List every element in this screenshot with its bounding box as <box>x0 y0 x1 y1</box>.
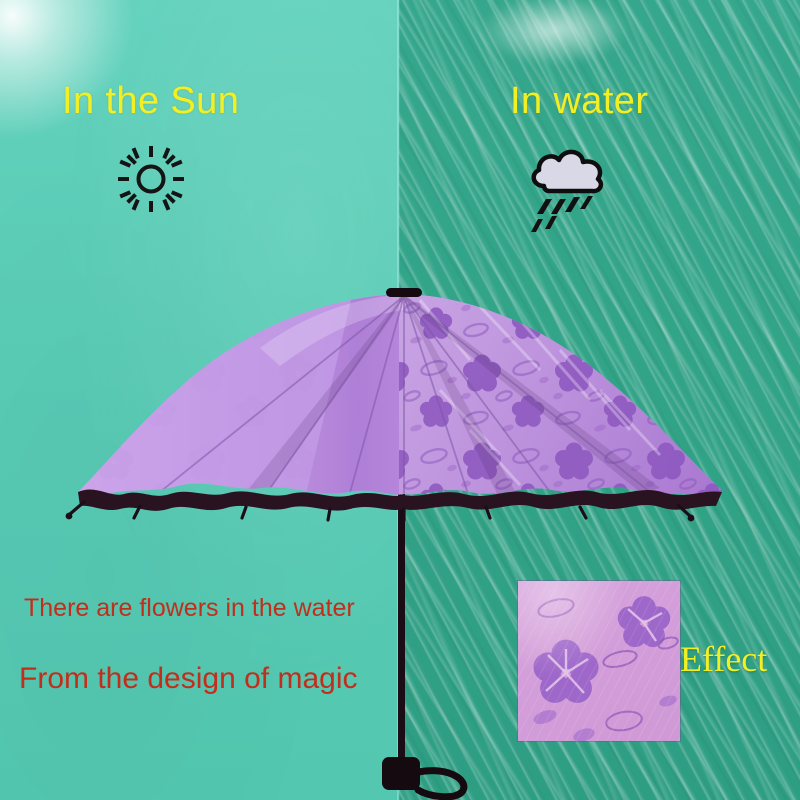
effect-swatch-closeup <box>518 581 680 741</box>
effect-callout-label: Effect <box>680 638 767 680</box>
product-image-canvas: In the Sun In water <box>0 0 800 800</box>
umbrella-canopy <box>0 260 800 540</box>
ferrule-tip <box>386 288 422 297</box>
caption-flowers-in-water: There are flowers in the water <box>24 594 355 623</box>
umbrella-handle <box>382 757 464 797</box>
swatch-flower-art <box>518 581 680 741</box>
wrist-strap <box>418 771 464 797</box>
caption-design-of-magic: From the design of magic <box>19 662 357 696</box>
